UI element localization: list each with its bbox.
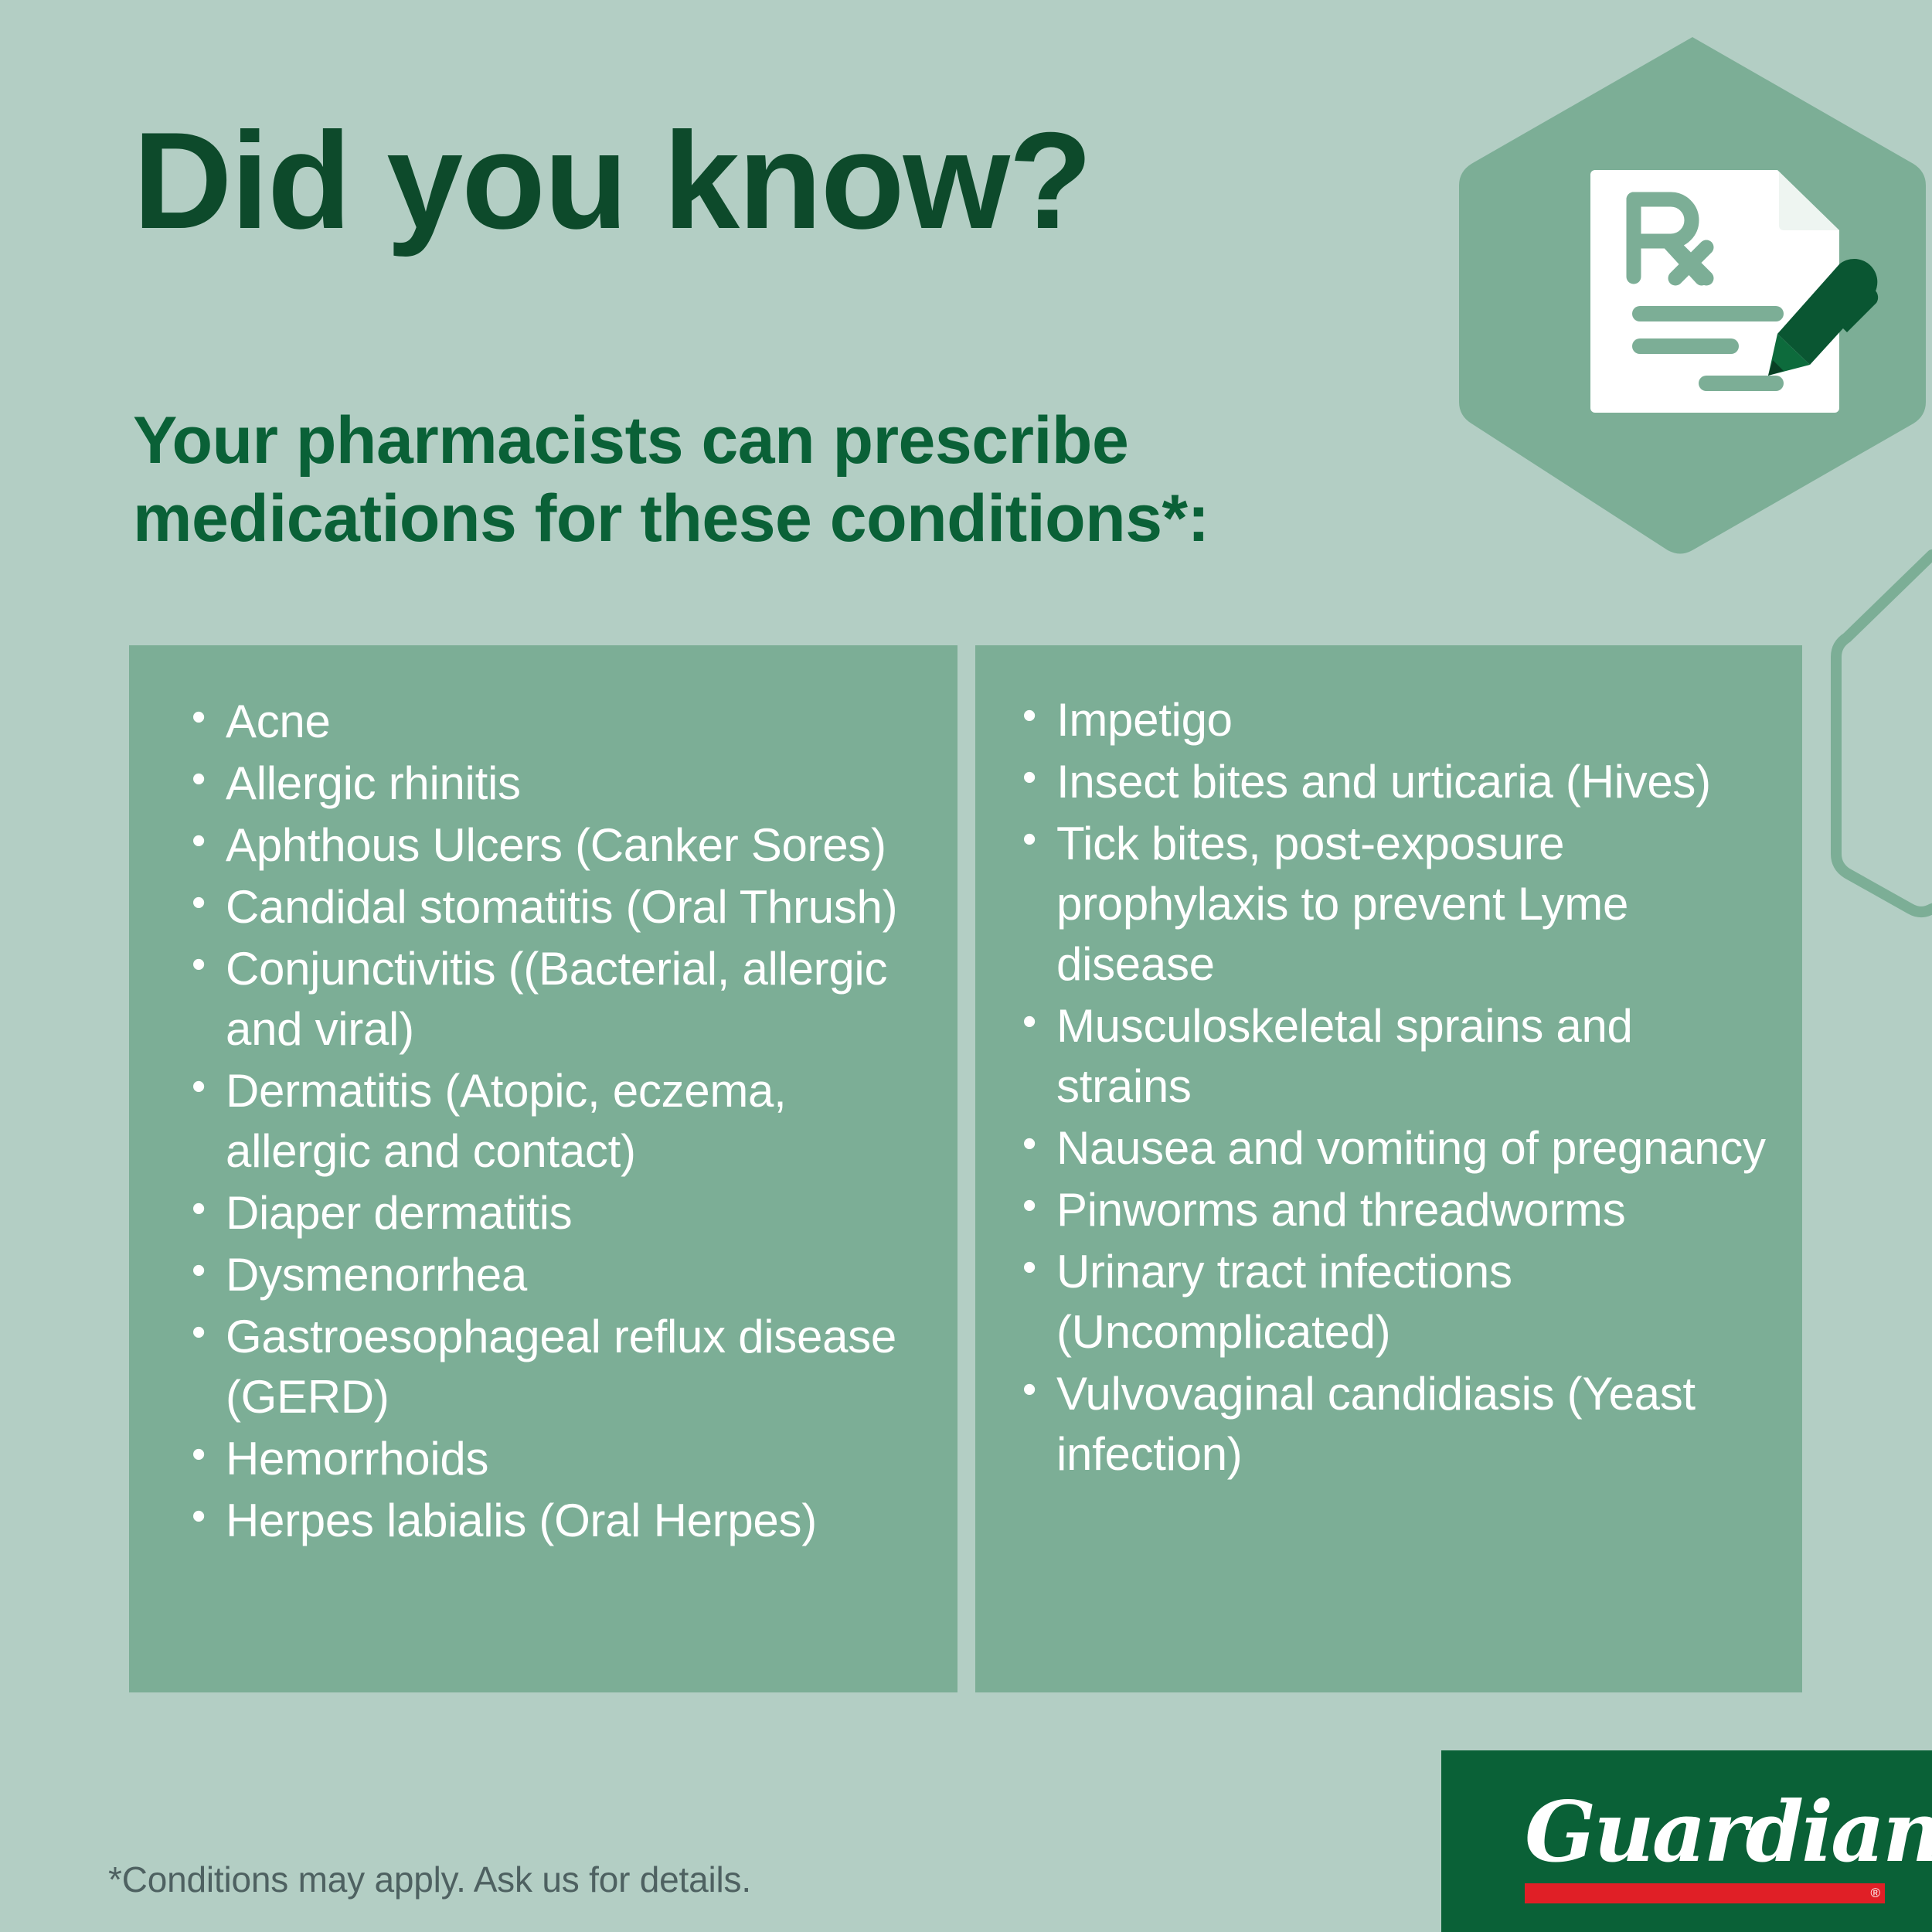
subtitle-line-1: Your pharmacists can prescribe bbox=[133, 402, 1209, 480]
guardian-logo: Guardian ® bbox=[1441, 1750, 1932, 1932]
subtitle: Your pharmacists can prescribe medicatio… bbox=[133, 402, 1209, 559]
list-item: Nausea and vomiting of pregnancy bbox=[1018, 1118, 1779, 1179]
conditions-card-left: Acne Allergic rhinitis Aphthous Ulcers (… bbox=[129, 645, 957, 1692]
list-item: Herpes labialis (Oral Herpes) bbox=[187, 1491, 927, 1551]
list-item: Pinworms and threadworms bbox=[1018, 1180, 1779, 1240]
registered-trademark-icon: ® bbox=[1870, 1886, 1880, 1901]
list-item: Gastroesophageal reflux disease (GERD) bbox=[187, 1307, 927, 1427]
list-item: Aphthous Ulcers (Canker Sores) bbox=[187, 815, 927, 876]
list-item: Vulvovaginal candidiasis (Yeast infectio… bbox=[1018, 1364, 1779, 1485]
rx-prescription-document-icon bbox=[1584, 162, 1893, 421]
footnote-disclaimer: *Conditions may apply. Ask us for detail… bbox=[108, 1859, 751, 1900]
conditions-card-right: Impetigo Insect bites and urticaria (Hiv… bbox=[975, 645, 1802, 1692]
list-item: Urinary tract infections (Uncomplicated) bbox=[1018, 1242, 1779, 1362]
list-item: Conjunctivitis ((Bacterial, allergic and… bbox=[187, 939, 927, 1060]
list-item: Diaper dermatitis bbox=[187, 1183, 927, 1243]
list-item: Acne bbox=[187, 692, 927, 752]
list-item: Dysmenorrhea bbox=[187, 1245, 927, 1305]
conditions-list-right: Impetigo Insect bites and urticaria (Hiv… bbox=[975, 645, 1802, 1485]
pen-icon bbox=[1768, 259, 1878, 376]
list-item: Candidal stomatitis (Oral Thrush) bbox=[187, 877, 927, 937]
page-title: Did you know? bbox=[133, 112, 1091, 250]
list-item: Insect bites and urticaria (Hives) bbox=[1018, 752, 1779, 812]
guardian-wordmark: Guardian bbox=[1525, 1791, 1932, 1874]
conditions-list-left: Acne Allergic rhinitis Aphthous Ulcers (… bbox=[129, 645, 957, 1551]
list-item: Tick bites, post-exposure prophylaxis to… bbox=[1018, 814, 1779, 995]
list-item: Hemorrhoids bbox=[187, 1429, 927, 1489]
list-item: Musculoskeletal sprains and strains bbox=[1018, 996, 1779, 1117]
list-item: Impetigo bbox=[1018, 690, 1779, 750]
infographic-poster: Did you know? Your pharmacists can presc… bbox=[0, 0, 1932, 1932]
list-item: Allergic rhinitis bbox=[187, 753, 927, 814]
hexagon-badge bbox=[1453, 31, 1932, 556]
list-item: Dermatitis (Atopic, eczema, allergic and… bbox=[187, 1061, 927, 1182]
subtitle-line-2: medications for these conditions*: bbox=[133, 480, 1209, 558]
guardian-red-bar: ® bbox=[1525, 1883, 1885, 1903]
